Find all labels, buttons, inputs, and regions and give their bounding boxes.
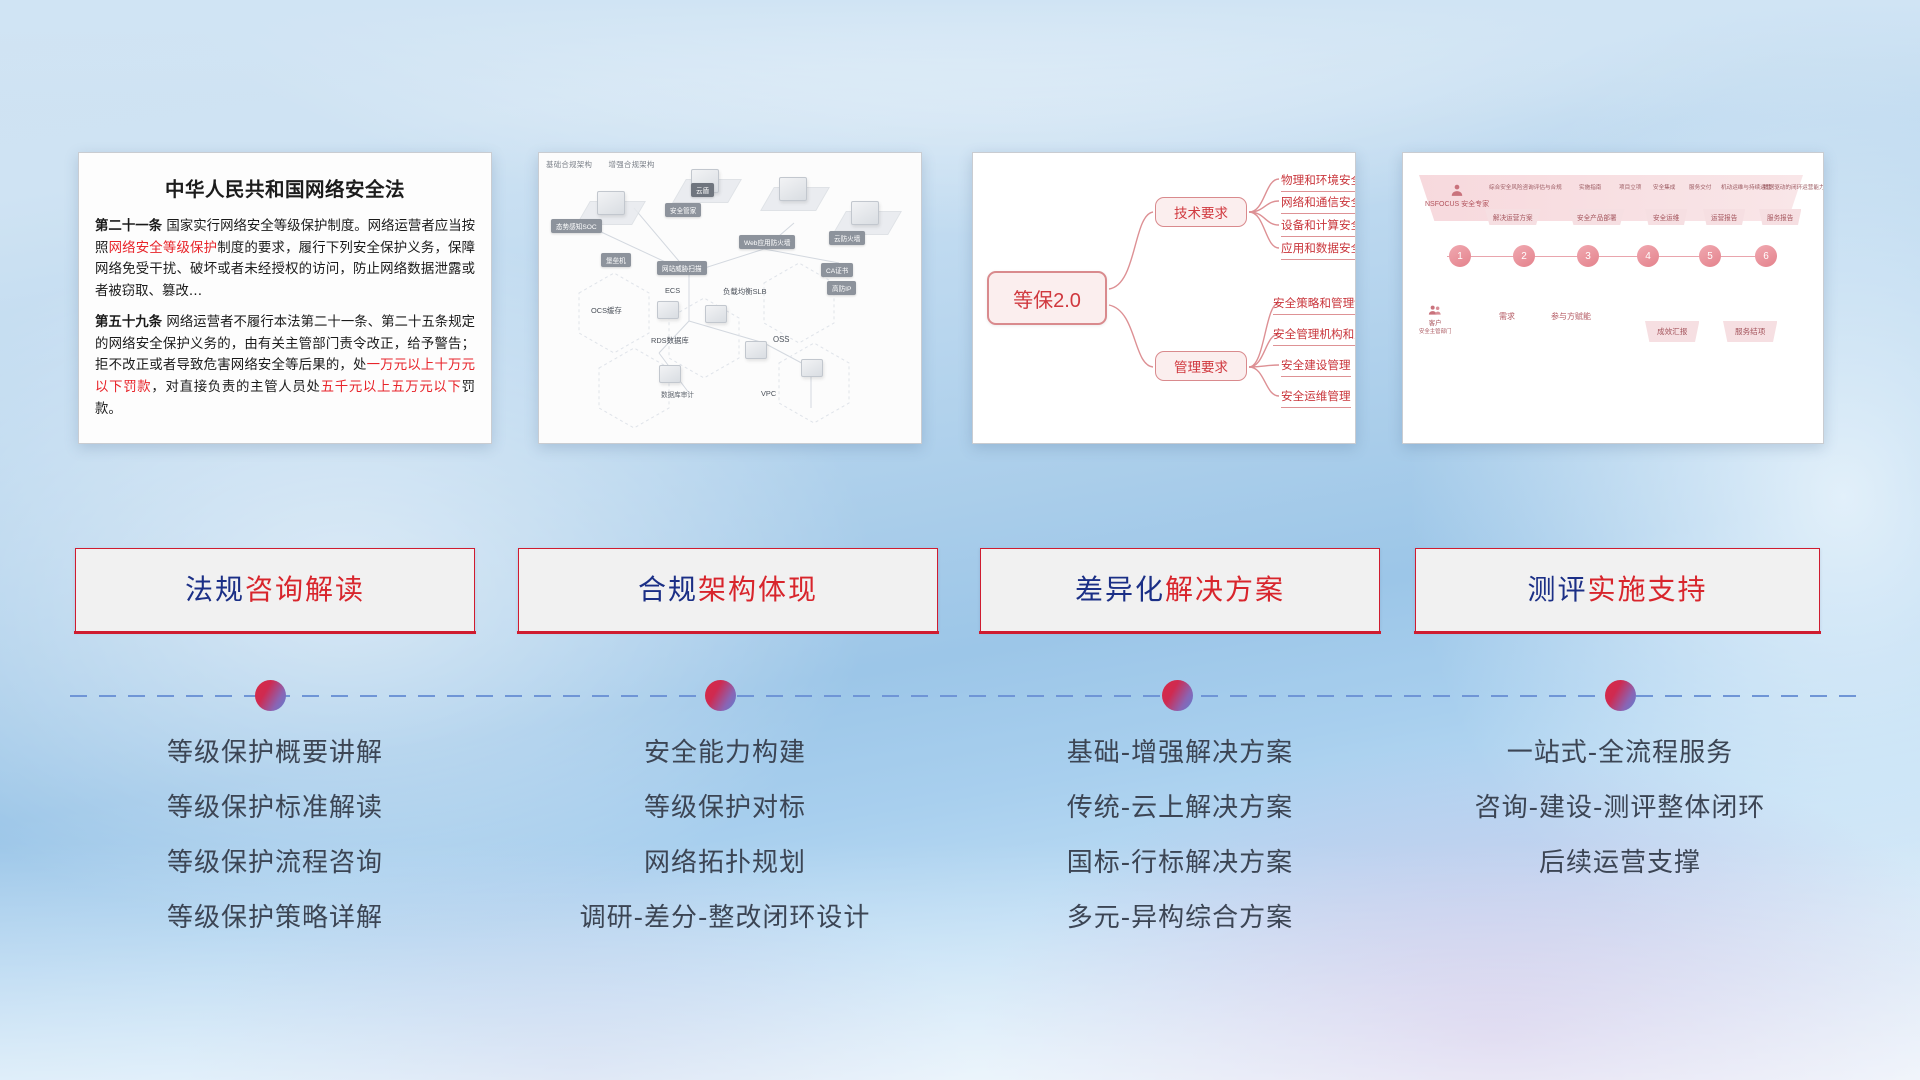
detail-2-item-2: 网络拓扑规划 [500,850,950,876]
pillar-1-title-blue: 法规 [185,574,245,605]
timeline-dot-2 [705,680,736,711]
pillar-3-title-blue: 差异化 [1075,574,1165,605]
pillar-title-text-2: 合规架构体现 [638,576,818,604]
pillar-1-title-red: 咨询解读 [245,574,365,605]
detail-3-item-0: 基础-增强解决方案 [960,740,1400,766]
timeline-dashed-line [70,695,1860,697]
detail-4-item-2: 后续运营支撑 [1400,850,1840,876]
pillar-title-compliance-architecture[interactable]: 合规架构体现 [518,548,938,632]
detail-column-2: 安全能力构建 等级保护对标 网络拓扑规划 调研-差分-整改闭环设计 [500,740,950,960]
pillar-title-assessment-support[interactable]: 测评实施支持 [1415,548,1820,632]
detail-4-item-1: 咨询-建设-测评整体闭环 [1400,795,1840,821]
detail-3-item-1: 传统-云上解决方案 [960,795,1400,821]
pillar-3-title-red: 解决方案 [1165,574,1285,605]
pillar-title-differentiated-solution[interactable]: 差异化解决方案 [980,548,1380,632]
detail-1-item-1: 等级保护标准解读 [60,795,490,821]
pillar-4-title-red: 实施支持 [1588,574,1708,605]
detail-2-item-0: 安全能力构建 [500,740,950,766]
pillar-title-text-1: 法规咨询解读 [185,576,365,604]
pillar-title-text-4: 测评实施支持 [1527,576,1707,604]
pillar-title-regulation-consulting[interactable]: 法规咨询解读 [75,548,475,632]
detail-3-item-2: 国标-行标解决方案 [960,850,1400,876]
detail-1-item-2: 等级保护流程咨询 [60,850,490,876]
detail-column-1: 等级保护概要讲解 等级保护标准解读 等级保护流程咨询 等级保护策略详解 [60,740,490,960]
detail-1-item-3: 等级保护策略详解 [60,905,490,931]
detail-2-item-1: 等级保护对标 [500,795,950,821]
timeline-dot-1 [255,680,286,711]
detail-column-4: 一站式-全流程服务 咨询-建设-测评整体闭环 后续运营支撑 [1400,740,1840,905]
timeline-dot-4 [1605,680,1636,711]
detail-2-item-3: 调研-差分-整改闭环设计 [500,905,950,931]
detail-1-item-0: 等级保护概要讲解 [60,740,490,766]
detail-3-item-3: 多元-异构综合方案 [960,905,1400,931]
pillar-title-text-3: 差异化解决方案 [1075,576,1285,604]
pillar-4-title-blue: 测评 [1527,574,1587,605]
pillar-2-title-blue: 合规 [638,574,698,605]
detail-4-item-0: 一站式-全流程服务 [1400,740,1840,766]
timeline-dot-3 [1162,680,1193,711]
pillar-2-title-red: 架构体现 [698,574,818,605]
detail-column-3: 基础-增强解决方案 传统-云上解决方案 国标-行标解决方案 多元-异构综合方案 [960,740,1400,960]
